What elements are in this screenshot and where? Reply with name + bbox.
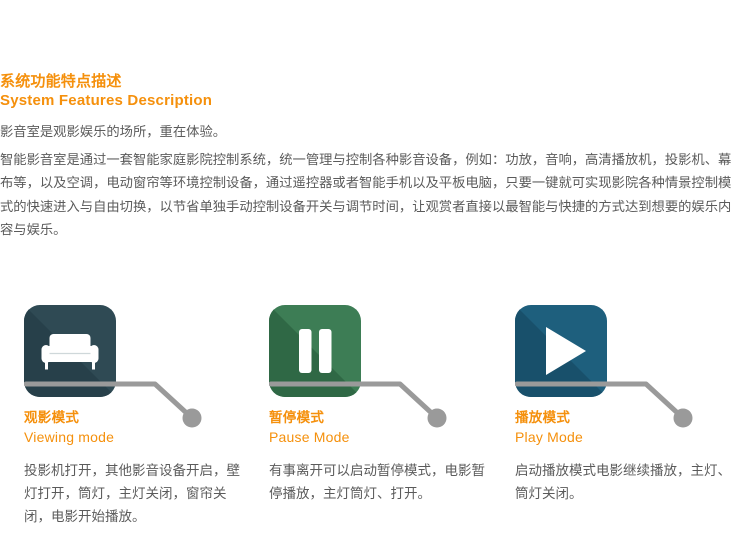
page-header: 系统功能特点描述 System Features Description bbox=[0, 72, 740, 111]
viewing-mode-label-en: Viewing mode bbox=[24, 428, 114, 446]
pause-mode-label-en: Pause Mode bbox=[269, 428, 350, 446]
page-title-cn: 系统功能特点描述 bbox=[0, 72, 740, 91]
sofa-icon bbox=[24, 305, 116, 397]
mode-card-viewing[interactable]: 观影模式 Viewing mode 投影机打开，其他影音设备开启，壁灯打开，筒灯… bbox=[24, 296, 259, 548]
viewing-mode-label-cn: 观影模式 bbox=[24, 409, 79, 426]
viewing-mode-description: 投影机打开，其他影音设备开启，壁灯打开，筒灯，主灯关闭，窗帘关闭，电影开始播放。 bbox=[24, 459, 242, 528]
viewing-mode-tile[interactable] bbox=[24, 305, 116, 397]
play-icon bbox=[515, 305, 607, 397]
pause-mode-tile[interactable] bbox=[269, 305, 361, 397]
mode-cards: 观影模式 Viewing mode 投影机打开，其他影音设备开启，壁灯打开，筒灯… bbox=[0, 296, 740, 548]
play-mode-description: 启动播放模式电影继续播放，主灯、筒灯关闭。 bbox=[515, 459, 733, 505]
play-mode-tile[interactable] bbox=[515, 305, 607, 397]
intro-body: 智能影音室是通过一套智能家庭影院控制系统，统一管理与控制各种影音设备，例如：功放… bbox=[0, 148, 740, 242]
pause-mode-label-cn: 暂停模式 bbox=[269, 409, 324, 426]
page-title-en: System Features Description bbox=[0, 91, 740, 111]
pause-icon bbox=[269, 305, 361, 397]
mode-card-pause[interactable]: 暂停模式 Pause Mode 有事离开可以启动暂停模式，电影暂停播放，主灯筒灯… bbox=[269, 296, 504, 548]
play-mode-label-cn: 播放模式 bbox=[515, 409, 570, 426]
intro-lead: 影音室是观影娱乐的场所，重在体验。 bbox=[0, 120, 740, 144]
pause-mode-description: 有事离开可以启动暂停模式，电影暂停播放，主灯筒灯、打开。 bbox=[269, 459, 487, 505]
play-mode-label-en: Play Mode bbox=[515, 428, 583, 446]
intro-section: 影音室是观影娱乐的场所，重在体验。 智能影音室是通过一套智能家庭影院控制系统，统… bbox=[0, 120, 740, 242]
mode-card-play[interactable]: 播放模式 Play Mode 启动播放模式电影继续播放，主灯、筒灯关闭。 bbox=[515, 296, 740, 548]
